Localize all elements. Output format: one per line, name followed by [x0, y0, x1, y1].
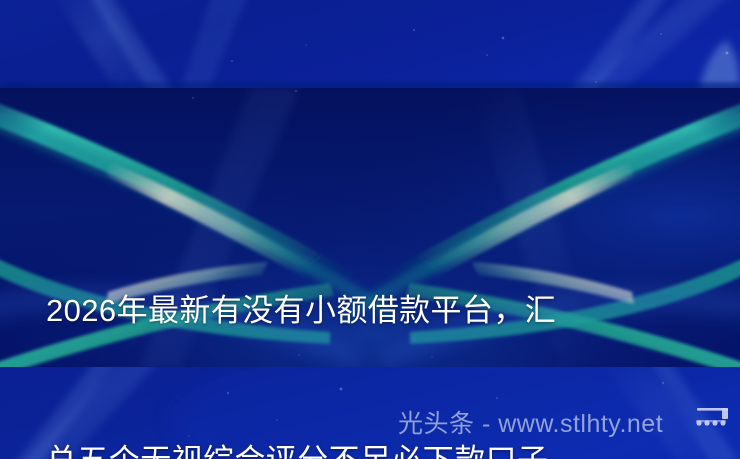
headline-line-1: 2026年最新有没有小额借款平台，汇 — [46, 286, 706, 336]
site-watermark: 光头条 - www.stlhty.net — [398, 407, 663, 441]
logo-mark-icon — [690, 404, 734, 438]
poster-canvas: 2026年最新有没有小额借款平台，汇 总五个无视综合评分不足必下款口子 光头条 … — [0, 0, 740, 459]
top-band — [0, 0, 740, 96]
